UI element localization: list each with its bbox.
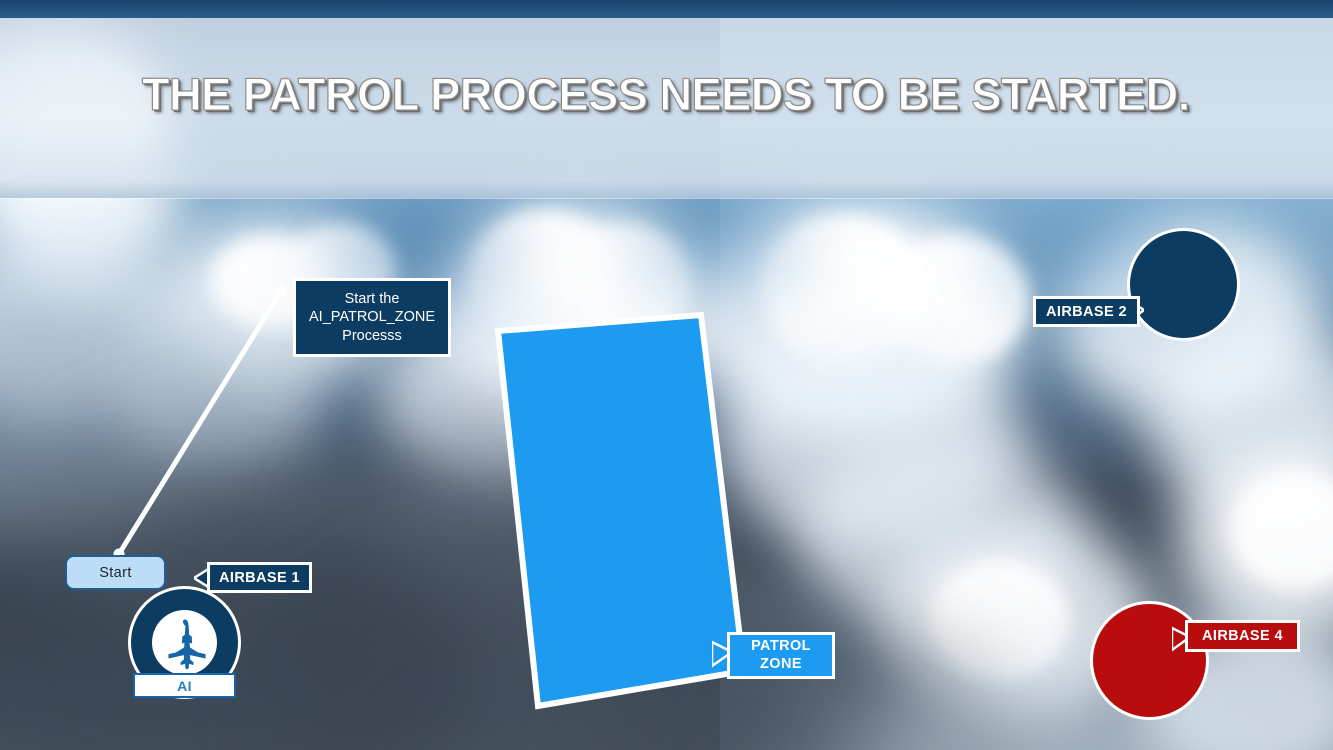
ai-node-label[interactable]: AI <box>133 673 236 698</box>
jet-icon-disc <box>152 610 217 675</box>
fighter-jet-icon <box>159 617 211 669</box>
patrol-zone-label-line2: ZONE <box>760 656 802 674</box>
slide-top-edge <box>0 0 1333 18</box>
callout-line-3: Processs <box>342 327 402 346</box>
airbase-2-circle[interactable] <box>1127 228 1240 341</box>
page-title: THE PATROL PROCESS NEEDS TO BE STARTED. <box>142 68 1202 123</box>
title-band: THE PATROL PROCESS NEEDS TO BE STARTED. <box>0 18 1333 198</box>
patrol-zone-label-line1: PATROL <box>751 638 811 656</box>
airbase-4-circle[interactable] <box>1090 601 1209 720</box>
airbase-2-label[interactable]: AIRBASE 2 <box>1033 296 1140 327</box>
slide-canvas: THE PATROL PROCESS NEEDS TO BE STARTED. … <box>0 0 1333 750</box>
airbase-4-label[interactable]: AIRBASE 4 <box>1185 620 1300 652</box>
patrol-zone-label[interactable]: PATROL ZONE <box>727 632 835 679</box>
start-process-callout[interactable]: Start the AI_PATROL_ZONE Processs <box>293 278 451 357</box>
callout-line-2: AI_PATROL_ZONE <box>309 308 435 327</box>
airbase-1-label[interactable]: AIRBASE 1 <box>207 562 312 593</box>
start-node[interactable]: Start <box>65 555 166 590</box>
callout-line-1: Start the <box>345 290 400 309</box>
